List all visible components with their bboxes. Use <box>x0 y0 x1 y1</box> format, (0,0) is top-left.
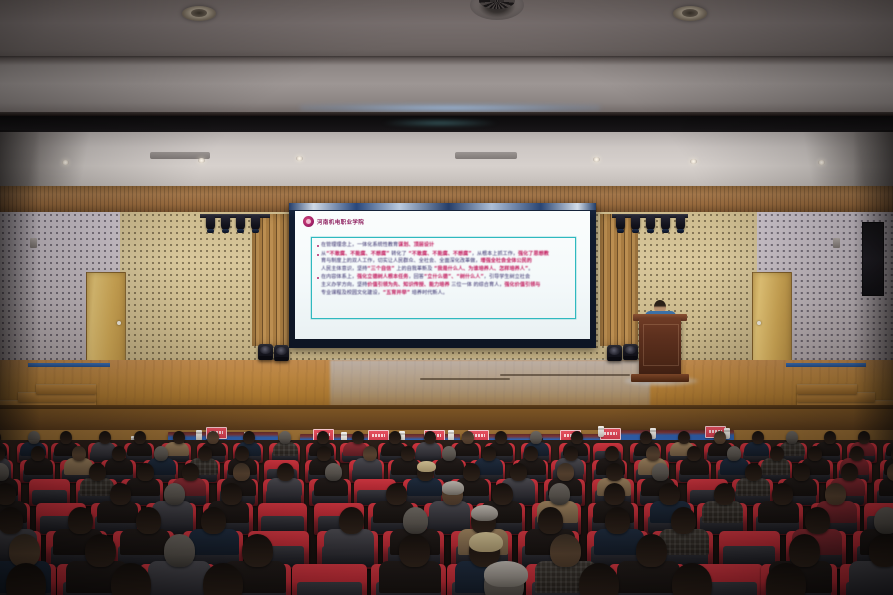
slide-text-line: 育与制度上的双人工作，切实让人民群众、全社会、全面深化改革做，增强全社会全体公民… <box>321 258 570 266</box>
slide-text-plain: 上的自我革新及 <box>395 266 434 272</box>
slide-text-plain: 育与制度上的双人工作，切实让人民群众、全社会、全面深化改革做， <box>321 258 480 264</box>
slide-text-plain: 在管理理念上，一体化系统性教育 <box>321 242 398 248</box>
audience-person-head <box>317 446 331 461</box>
slide-institution-name: 河南机电职业学院 <box>317 218 364 226</box>
audience-person-head <box>201 507 226 534</box>
audience-person-head <box>874 507 893 534</box>
audience-person-head <box>173 431 185 444</box>
stage-spotlight-icon <box>676 216 685 230</box>
slide-text-highlight: 价值引领为先、知识传授、能力培养 <box>367 282 449 288</box>
podium <box>639 318 681 378</box>
hall-ceiling <box>0 132 893 194</box>
audience-person-head <box>659 483 680 505</box>
slide-bullet-lines: 从“不敢腐、不能腐、不想腐” 转化了 “不敢腐、不能腐、不想腐”，从根本上抓工作… <box>321 251 570 274</box>
bullet-marker-icon <box>317 254 319 256</box>
ceiling-slot-vent <box>455 152 517 159</box>
audience-person-head <box>136 507 161 534</box>
audience-person-head <box>671 507 696 534</box>
audience-person-head <box>243 431 255 444</box>
audience-person-head <box>164 534 195 567</box>
stage-spotlight-icon <box>251 216 260 230</box>
audience-person-head <box>824 431 836 444</box>
audience-person-head <box>752 431 764 444</box>
audience-person-hat <box>484 561 527 587</box>
wall-speaker-icon <box>833 238 840 248</box>
audience-person-head <box>389 431 401 444</box>
step <box>36 384 96 394</box>
stage-blue-trim-left <box>28 363 110 367</box>
door-knob-icon <box>117 321 121 325</box>
audience-person-head <box>805 507 830 534</box>
audience-person-hat <box>442 481 465 495</box>
audience-person-head <box>235 446 249 461</box>
ceiling-light-glow <box>300 104 600 112</box>
audience-person-hat <box>471 505 498 522</box>
podium-front-panel <box>643 324 679 366</box>
bullet-marker-icon <box>317 277 319 279</box>
door-knob-icon <box>757 321 761 325</box>
audience-person-head <box>636 534 667 567</box>
audience-person-head <box>564 446 578 461</box>
audience-person-head <box>538 507 563 534</box>
slide-text-line: 人民主体意识，坚持“三个自信” 上的自我革新及 “我是什么人、为谁培养人、怎样培… <box>321 266 570 274</box>
audience-person-head <box>317 431 329 444</box>
audience-person-head <box>154 446 168 461</box>
audience-person-head <box>60 431 72 444</box>
stage-spotlight-icon <box>646 216 655 230</box>
audience-person-head <box>72 446 86 461</box>
ceiling-downlight-icon <box>690 159 697 164</box>
audience-person-hat <box>417 461 435 472</box>
audience-person-head <box>31 446 45 461</box>
audience-person-head <box>401 446 415 461</box>
slide-text-plain: 在内容体系上， <box>321 274 357 280</box>
audience-person-head <box>68 507 93 534</box>
wooden-slat-panel-right <box>600 214 638 346</box>
audience-person-head <box>198 446 212 461</box>
audience-person-head <box>727 446 741 461</box>
audience-person-head <box>207 431 219 444</box>
audience-person-head <box>687 446 701 461</box>
audience-person-head <box>808 446 822 461</box>
audience-person-hat <box>469 532 502 552</box>
ceiling-downlight-icon <box>62 160 69 165</box>
water-cup <box>598 426 604 437</box>
slide-text-highlight: 强化价值引领与 <box>504 282 540 288</box>
slide-text-plain: 培养时代新人。 <box>410 290 448 296</box>
audience-person-head <box>221 483 242 505</box>
slide-text-highlight: “立什么德”、“树什么人” <box>424 274 484 280</box>
audience-person-head <box>714 483 735 505</box>
slide-text-highlight: “三个自信” <box>367 266 394 272</box>
ceiling-downlight-icon <box>818 160 825 165</box>
screen-top-reflection <box>289 203 596 210</box>
stage-spotlight-icon <box>661 216 670 230</box>
audience-person-head <box>28 431 40 444</box>
slide-text-plain: ，回答 <box>408 274 423 280</box>
audience-person-head <box>352 431 364 444</box>
wooden-slat-panel-left <box>252 214 290 346</box>
slide-text-plain: 专业课程及校园文化建设， <box>321 290 383 296</box>
audience-person-head <box>424 431 436 444</box>
audience-person-head <box>242 534 273 567</box>
audience-person-head <box>772 483 793 505</box>
audience-person-head <box>841 463 858 481</box>
audience-person-head <box>887 463 893 481</box>
audience-person-head <box>571 431 583 444</box>
audience-person-head <box>110 483 131 505</box>
audience-person-head <box>605 446 619 461</box>
audience-person-head <box>510 463 527 481</box>
stage-spotlight-icon <box>631 216 640 230</box>
seat-cushion <box>297 582 362 595</box>
audience-person-head <box>858 431 870 444</box>
slide-text-highlight: 增强全社会全体公民的 <box>480 258 531 264</box>
ceiling-glint <box>380 120 500 126</box>
audience-person-head <box>850 446 864 461</box>
moving-head-light-icon <box>258 344 273 360</box>
audience-person-head <box>0 507 23 534</box>
audience-person-head <box>363 446 377 461</box>
slide-text-line: 在管理理念上，一体化系统性教育谋划、顶层设计 <box>321 242 570 250</box>
slide-bullet-lines: 在内容体系上，强化立德树人根本任务，回答“立什么德”、“树什么人”，引导学生树立… <box>321 274 570 297</box>
audience-person-head <box>678 431 690 444</box>
audience-person-head <box>112 446 126 461</box>
audience-person-head <box>134 431 146 444</box>
audience-person-head <box>605 507 630 534</box>
audience-person-head <box>325 463 342 481</box>
slide-content-box: 在管理理念上，一体化系统性教育谋划、顶层设计从“不敢腐、不能腐、不想腐” 转化了… <box>311 237 576 319</box>
audience-person-head <box>339 507 364 534</box>
audience-section <box>0 440 893 595</box>
stage-cable <box>500 374 630 376</box>
stage-spotlight-icon <box>221 216 230 230</box>
slide-text-plain: ，引导学生树立社会 <box>484 274 530 280</box>
slide-bullet: 在管理理念上，一体化系统性教育谋划、顶层设计 <box>317 242 570 250</box>
slide-bullet: 从“不敢腐、不能腐、不想腐” 转化了 “不敢腐、不能腐、不想腐”，从根本上抓工作… <box>317 251 570 274</box>
audience-person-head <box>524 446 538 461</box>
slide-text-highlight: 谋划、顶层设计 <box>398 242 434 248</box>
audience-person-head <box>279 431 291 444</box>
wall-display-panel-right <box>862 222 884 296</box>
audience-person-head <box>462 431 474 444</box>
slide-text-line: 主义办学方向，坚持价值引领为先、知识传授、能力培养 三位一体 的综合育人，强化价… <box>321 282 570 290</box>
audience-person-head <box>745 463 762 481</box>
stage-spotlight-icon <box>236 216 245 230</box>
bullet-marker-icon <box>317 245 319 247</box>
audience-person-head <box>9 534 40 567</box>
auditorium-photo: 河南机电职业学院 在管理理念上，一体化系统性教育谋划、顶层设计从“不敢腐、不能腐… <box>0 0 893 595</box>
audience-person-head <box>869 534 893 567</box>
slide-text-highlight: “五育并举” <box>383 290 410 296</box>
slide-text-line: 在内容体系上，强化立德树人根本任务，回答“立什么德”、“树什么人”，引导学生树立… <box>321 274 570 282</box>
audience-person-head <box>825 483 846 505</box>
stage-floor-reflection <box>330 360 650 408</box>
audience-person-head <box>386 483 407 505</box>
slide-text-line: 专业课程及校园文化建设，“五育并举” 培养时代新人。 <box>321 290 570 298</box>
beam-recessed-light-icon <box>673 6 707 21</box>
slide-bullet-lines: 在管理理念上，一体化系统性教育谋划、顶层设计 <box>321 242 570 250</box>
stage-blue-trim-right <box>786 363 866 367</box>
moving-head-light-icon <box>607 345 622 361</box>
audience-person-head <box>604 483 625 505</box>
audience-person-head <box>442 446 456 461</box>
moving-head-light-icon <box>274 345 289 361</box>
audience-person-head <box>399 534 430 567</box>
moving-head-light-icon <box>623 344 638 360</box>
college-emblem-icon <box>303 216 314 227</box>
slide-text-plain: 主义办学方向，坚持 <box>321 282 367 288</box>
slide-text-plain: 。 <box>528 266 533 272</box>
slide-bullet: 在内容体系上，强化立德树人根本任务，回答“立什么德”、“树什么人”，引导学生树立… <box>317 274 570 297</box>
audience-person-head <box>85 534 116 567</box>
audience-person-head <box>277 463 294 481</box>
audience-person-head <box>714 431 726 444</box>
slide-text-highlight: “不敢腐、不能腐、不想腐” <box>326 251 389 257</box>
stage-cable <box>420 378 510 380</box>
audience-person-head <box>652 463 669 481</box>
slide-text-plain: 转化了 <box>390 251 409 257</box>
step <box>797 384 857 394</box>
slide-text-plain: 人民主体意识，坚持 <box>321 266 367 272</box>
slide-institution-logo: 河南机电职业学院 <box>303 216 364 227</box>
slide-text-highlight: “不敢腐、不能腐、不想腐” <box>408 251 471 257</box>
audience-person-head <box>530 431 542 444</box>
slide-text-highlight: 强化了思想教 <box>518 251 549 257</box>
audience-person-head <box>495 431 507 444</box>
audience-person-head <box>793 463 810 481</box>
audience-person-head <box>233 463 250 481</box>
audience-person-head <box>164 483 185 505</box>
audience-person-head <box>482 446 496 461</box>
audience-person-head <box>770 446 784 461</box>
ceiling-downlight-icon <box>198 158 205 163</box>
audience-person-head <box>99 431 111 444</box>
audience-person-head <box>550 534 581 567</box>
ceiling-downlight-icon <box>296 156 303 161</box>
slide-text-plain: ，从根本上抓工作， <box>472 251 518 257</box>
podium-base <box>631 374 689 382</box>
audience-person-head <box>786 431 798 444</box>
audience-person-head <box>557 463 574 481</box>
stage-spotlight-icon <box>206 216 215 230</box>
slide-text-plain: 三位一体 的综合育人， <box>450 282 505 288</box>
audience-person-head <box>646 446 660 461</box>
projection-screen-surface: 河南机电职业学院 在管理理念上，一体化系统性教育谋划、顶层设计从“不敢腐、不能腐… <box>295 211 590 339</box>
audience-person-head <box>549 483 570 505</box>
stage-door-right[interactable] <box>752 272 792 374</box>
audience-person-head <box>182 463 199 481</box>
auditorium-seat[interactable] <box>292 564 367 595</box>
slide-text-highlight: 强化立德树人根本任务 <box>357 274 408 280</box>
beam-recessed-light-icon <box>182 6 216 21</box>
ceiling-downlight-icon <box>593 157 600 162</box>
audience-person-head <box>137 463 154 481</box>
audience-person-head <box>463 463 480 481</box>
audience-person-head <box>606 463 623 481</box>
audience-person-head <box>640 431 652 444</box>
stage-door-left[interactable] <box>86 272 126 374</box>
audience-person-head <box>0 483 16 505</box>
stage-spotlight-icon <box>616 216 625 230</box>
audience-person-head <box>789 534 820 567</box>
slide-text-highlight: “我是什么人、为谁培养人、怎样培养人” <box>434 266 528 272</box>
audience-person-head <box>403 507 428 534</box>
audience-person-head <box>492 483 513 505</box>
wall-speaker-icon <box>30 238 37 248</box>
audience-person-head <box>89 463 106 481</box>
